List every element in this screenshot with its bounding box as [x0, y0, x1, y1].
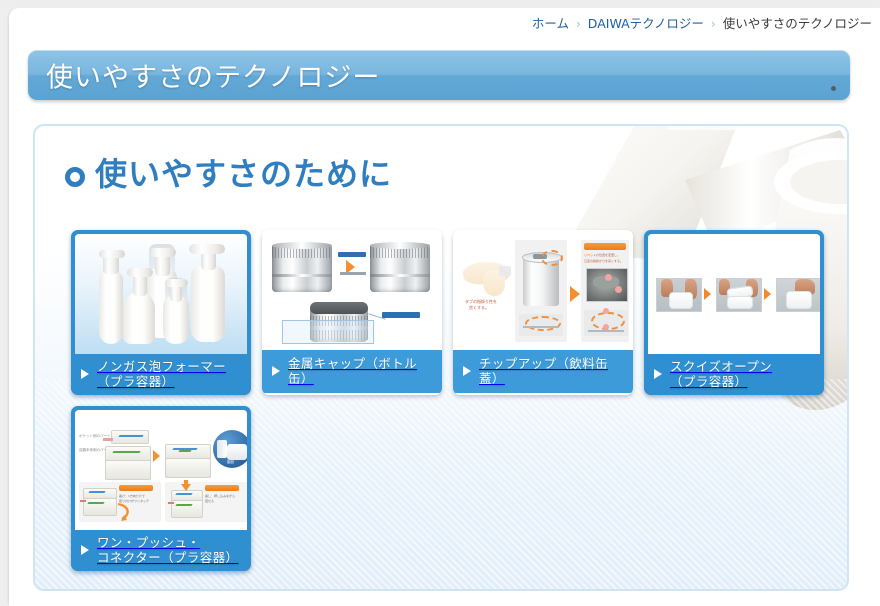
- technology-card-grid: ノンガス泡フォーマー （プラ容器）: [71, 230, 831, 571]
- thumb-squeeze-open-photos: [648, 234, 820, 354]
- section-heading: 使いやすさのために: [65, 154, 392, 194]
- play-arrow-icon: [272, 366, 280, 376]
- section-heading-label: 使いやすさのために: [95, 154, 392, 194]
- ring-bullet-icon: [65, 167, 85, 187]
- thumb-pump-bottles-photo: [75, 234, 247, 354]
- card-one-push-connector[interactable]: ポケット側のパーツ 容器本体側のパーツ: [71, 406, 251, 571]
- content-panel: 使いやすさのために: [33, 124, 849, 591]
- breadcrumb-separator-icon: ›: [711, 16, 716, 32]
- card-caption: ワン・プッシュ・ コネクター（プラ容器）: [71, 530, 251, 571]
- card-non-gas-foam-former[interactable]: ノンガス泡フォーマー （プラ容器）: [71, 230, 251, 395]
- card-caption: スクイズオープン （プラ容器）: [644, 354, 824, 395]
- page-root: ホーム › DAIWAテクノロジー › 使いやすさのテクノロジー 使いやすさのテ…: [0, 0, 880, 606]
- breadcrumb-separator-icon: ›: [576, 16, 581, 32]
- page-title: 使いやすさのテクノロジー: [46, 56, 380, 95]
- card-caption-label: 金属キャップ（ボトル缶）: [288, 356, 434, 386]
- thumb-one-push-connector-diagram: ポケット側のパーツ 容器本体側のパーツ: [75, 410, 247, 530]
- title-bar-dot-icon: [831, 86, 836, 91]
- card-caption: ノンガス泡フォーマー （プラ容器）: [71, 354, 251, 395]
- card-chip-up-beverage-can-lid[interactable]: タブの指掛り性を 良くする。 リベットの位置を変更し: [453, 230, 633, 395]
- card-squeeze-open[interactable]: スクイズオープン （プラ容器）: [644, 230, 824, 395]
- breadcrumb-item-home[interactable]: ホーム: [532, 16, 569, 32]
- card-caption-label: チップアップ（飲料缶蓋）: [479, 356, 625, 386]
- card-caption-label: スクイズオープン （プラ容器）: [670, 359, 772, 389]
- breadcrumb: ホーム › DAIWAテクノロジー › 使いやすさのテクノロジー: [532, 16, 872, 32]
- play-arrow-icon: [463, 366, 471, 376]
- page-title-bar: 使いやすさのテクノロジー: [28, 50, 850, 100]
- card-caption: チップアップ（飲料缶蓋）: [453, 350, 633, 393]
- card-caption-label: ワン・プッシュ・ コネクター（プラ容器）: [97, 535, 238, 565]
- play-arrow-icon: [81, 545, 89, 555]
- play-arrow-icon: [81, 369, 89, 379]
- play-arrow-icon: [654, 369, 662, 379]
- card-caption: 金属キャップ（ボトル缶）: [262, 350, 442, 393]
- thumb-can-tab-diagram: タブの指掛り性を 良くする。 リベットの位置を変更し: [453, 230, 633, 350]
- card-metal-cap-bottle-can[interactable]: 金属キャップ（ボトル缶）: [262, 230, 442, 395]
- breadcrumb-item-daiwa-technology[interactable]: DAIWAテクノロジー: [588, 16, 704, 32]
- thumb-metal-cap-diagram: [262, 230, 442, 350]
- breadcrumb-item-current: 使いやすさのテクノロジー: [723, 16, 872, 32]
- card-caption-label: ノンガス泡フォーマー （プラ容器）: [97, 359, 226, 389]
- page-left-gutter: [0, 8, 9, 606]
